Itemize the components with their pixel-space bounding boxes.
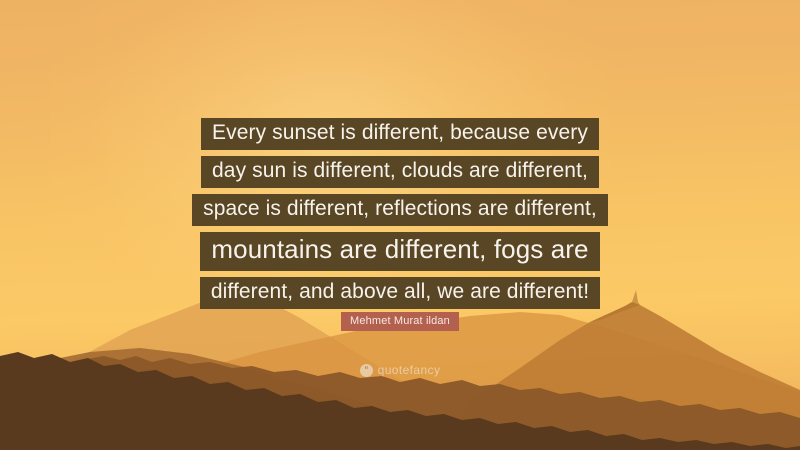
quote-line-4: mountains are different, fogs are	[200, 232, 599, 271]
quote-mark-icon: “	[360, 364, 373, 377]
watermark-brand: quotefancy	[378, 364, 441, 377]
quote-block: Every sunset is different, because every…	[0, 118, 800, 315]
quote-line-2: day sun is different, clouds are differe…	[201, 156, 599, 188]
author-attribution: Mehmet Murat ildan	[0, 312, 800, 331]
quote-poster: Every sunset is different, because every…	[0, 0, 800, 450]
watermark: “ quotefancy	[0, 364, 800, 377]
quote-line-1: Every sunset is different, because every	[201, 118, 599, 150]
author-name: Mehmet Murat ildan	[341, 312, 459, 331]
quote-line-3: space is different, reflections are diff…	[192, 194, 608, 226]
quote-line-5: different, and above all, we are differe…	[200, 277, 600, 309]
